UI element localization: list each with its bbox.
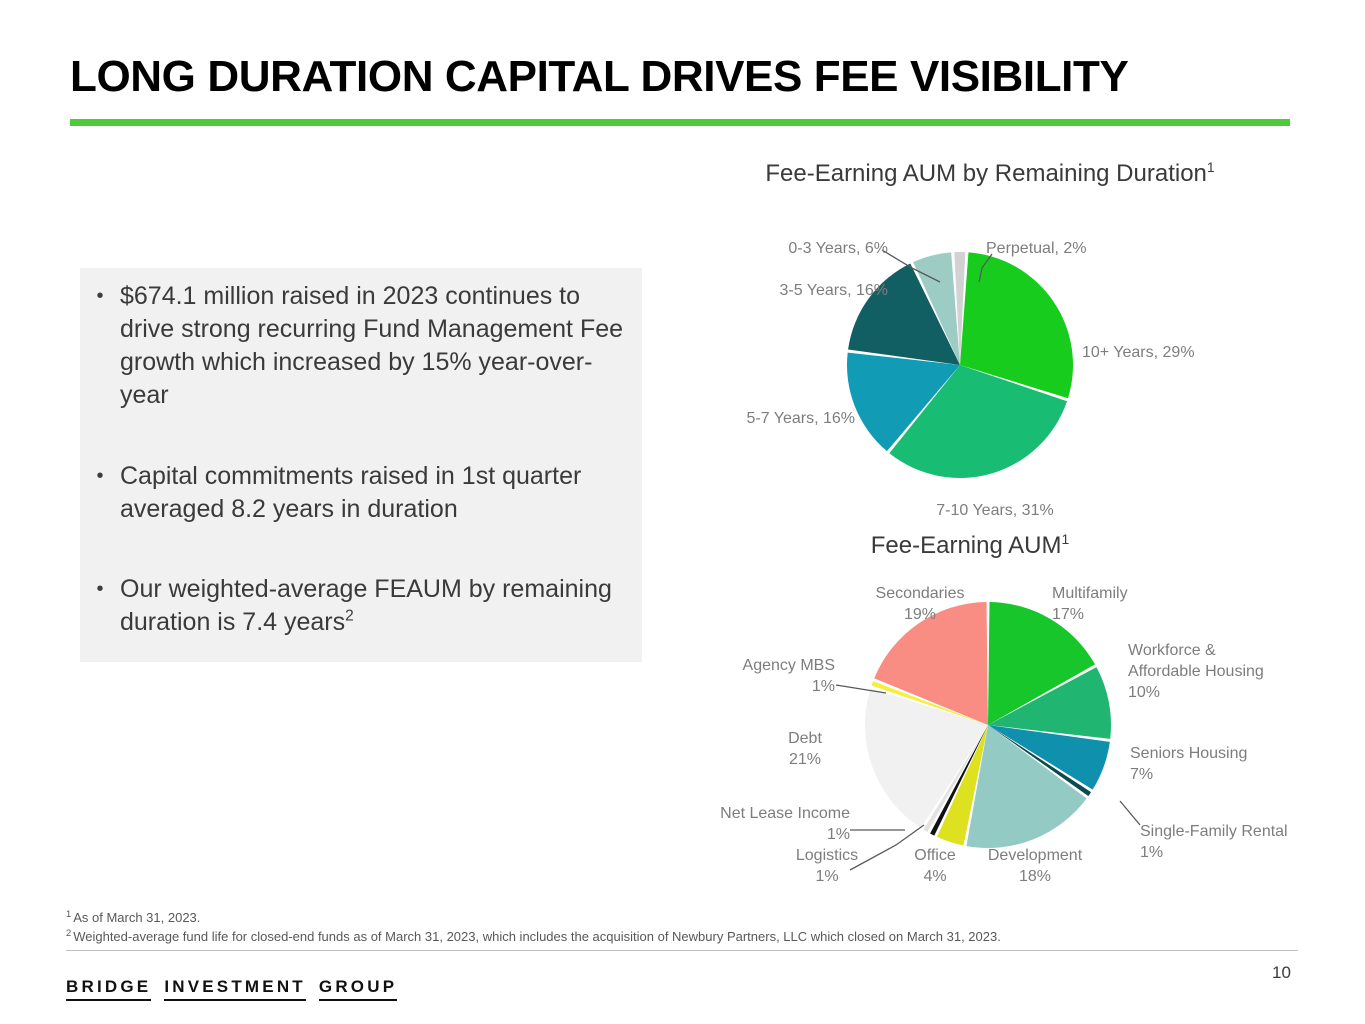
chart-title-footnote-marker: 1 xyxy=(1207,159,1215,175)
bullet-item: • Our weighted-average FEAUM by remainin… xyxy=(80,573,642,639)
pie-label-line: Agency MBS xyxy=(710,655,835,676)
pie-label-value: 1% xyxy=(1140,842,1350,863)
pie-label-line: Single-Family Rental xyxy=(1140,821,1350,842)
pie-label-line: Logistics xyxy=(772,845,882,866)
bullet-marker-icon: • xyxy=(80,460,120,526)
pie-label-line: Multifamily xyxy=(1052,583,1232,604)
bullet-text: Capital commitments raised in 1st quarte… xyxy=(120,460,642,526)
chart-title-text: Fee-Earning AUM xyxy=(871,532,1062,559)
pie-label-line: Debt xyxy=(760,728,850,749)
chart-title-footnote-marker: 1 xyxy=(1062,531,1070,547)
bullet-item: • $674.1 million raised in 2023 continue… xyxy=(80,280,642,412)
key-highlights-panel: • $674.1 million raised in 2023 continue… xyxy=(80,268,642,662)
chart-duration-pie: Fee-Earning AUM by Remaining Duration1 0… xyxy=(700,150,1320,530)
brand-word-investment: INVESTMENT xyxy=(164,977,306,1001)
chart-feaum-pie: Fee-Earning AUM1 Multifamily 17% Workfor… xyxy=(700,525,1340,900)
page-number: 10 xyxy=(1272,963,1291,983)
bullet-text-body: Our weighted-average FEAUM by remaining … xyxy=(120,575,612,636)
pie-label-perpetual: Perpetual, 2% xyxy=(986,238,1166,259)
footnotes: 1As of March 31, 2023. 2Weighted-average… xyxy=(66,908,1296,946)
pie-label-line: Development xyxy=(950,845,1120,866)
bullet-text: Our weighted-average FEAUM by remaining … xyxy=(120,573,642,639)
brand-word-group: GROUP xyxy=(319,977,397,1001)
pie-label-value: 18% xyxy=(950,866,1120,887)
page-title: LONG DURATION CAPITAL DRIVES FEE VISIBIL… xyxy=(70,52,1128,102)
title-accent-rule xyxy=(70,119,1290,126)
pie-label-line: Office xyxy=(895,845,975,866)
pie-label-3-5-years: 3-5 Years, 16% xyxy=(718,280,888,301)
pie-label-value: 19% xyxy=(840,604,1000,625)
bullet-footnote-marker: 2 xyxy=(345,608,354,625)
pie-label-multifamily: Multifamily 17% xyxy=(1052,583,1232,625)
pie-label-5-7-years: 5-7 Years, 16% xyxy=(700,408,855,429)
pie-label-net-lease-income: Net Lease Income 1% xyxy=(690,803,850,845)
feaum-pie-slices xyxy=(865,602,1111,848)
pie-label-value: 1% xyxy=(710,676,835,697)
duration-pie-graphic xyxy=(700,150,1320,530)
bullet-text: $674.1 million raised in 2023 continues … xyxy=(120,280,642,412)
pie-label-value: 21% xyxy=(760,749,850,770)
pie-label-line: Seniors Housing xyxy=(1130,743,1330,764)
pie-label-10-plus-years: 10+ Years, 29% xyxy=(1082,342,1262,363)
chart-title-feaum: Fee-Earning AUM1 xyxy=(770,530,1170,561)
brand-word-bridge: BRIDGE xyxy=(66,977,151,1001)
chart-title-duration: Fee-Earning AUM by Remaining Duration1 xyxy=(760,158,1220,189)
footnote-marker: 1 xyxy=(66,909,71,919)
pie-label-7-10-years: 7-10 Years, 31% xyxy=(900,500,1090,521)
footnote-text: Weighted-average fund life for closed-en… xyxy=(73,929,1001,944)
pie-label-debt: Debt 21% xyxy=(760,728,850,770)
bullet-marker-icon: • xyxy=(80,280,120,412)
pie-label-value: 4% xyxy=(895,866,975,887)
footnote-text: As of March 31, 2023. xyxy=(73,910,200,925)
pie-label-value: 1% xyxy=(690,824,850,845)
chart-title-text: Fee-Earning AUM by Remaining Duration xyxy=(765,160,1207,187)
pie-label-line: Secondaries xyxy=(840,583,1000,604)
slide-canvas: LONG DURATION CAPITAL DRIVES FEE VISIBIL… xyxy=(0,0,1365,1024)
pie-label-line: Workforce & xyxy=(1128,640,1348,661)
pie-label-secondaries: Secondaries 19% xyxy=(840,583,1000,625)
pie-label-development: Development 18% xyxy=(950,845,1120,887)
bullet-text-body: $674.1 million raised in 2023 continues … xyxy=(120,282,623,409)
footnote-1: 1As of March 31, 2023. xyxy=(66,908,1296,927)
leader-line-single-family-rental xyxy=(1120,801,1140,825)
pie-label-0-3-years: 0-3 Years, 6% xyxy=(758,238,888,259)
pie-label-line: Affordable Housing xyxy=(1128,661,1348,682)
pie-label-value: 7% xyxy=(1130,764,1330,785)
footnote-2: 2Weighted-average fund life for closed-e… xyxy=(66,927,1296,946)
pie-label-value: 1% xyxy=(772,866,882,887)
brand-logo: BRIDGE INVESTMENT GROUP xyxy=(66,977,397,1001)
pie-label-seniors-housing: Seniors Housing 7% xyxy=(1130,743,1330,785)
pie-label-office: Office 4% xyxy=(895,845,975,887)
pie-label-logistics: Logistics 1% xyxy=(772,845,882,887)
bullet-marker-icon: • xyxy=(80,573,120,639)
pie-label-agency-mbs: Agency MBS 1% xyxy=(710,655,835,697)
footnote-marker: 2 xyxy=(66,928,71,938)
bullet-item: • Capital commitments raised in 1st quar… xyxy=(80,460,642,526)
pie-label-value: 17% xyxy=(1052,604,1232,625)
bullet-text-body: Capital commitments raised in 1st quarte… xyxy=(120,462,581,523)
pie-label-value: 10% xyxy=(1128,682,1348,703)
footer-divider xyxy=(66,950,1298,951)
pie-label-line: Net Lease Income xyxy=(690,803,850,824)
pie-label-workforce-affordable-housing: Workforce & Affordable Housing 10% xyxy=(1128,640,1348,703)
pie-label-single-family-rental: Single-Family Rental 1% xyxy=(1140,821,1350,863)
